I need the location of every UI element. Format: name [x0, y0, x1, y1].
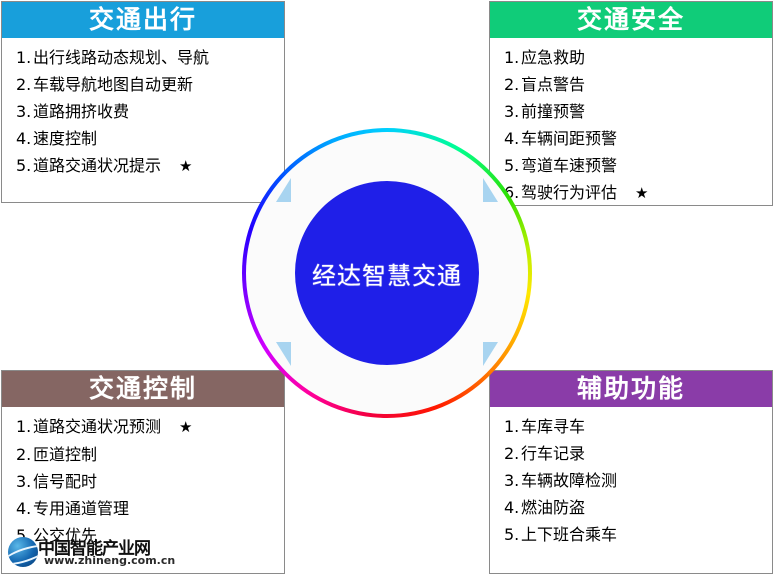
- list-item-number: 5.: [504, 521, 521, 548]
- center-core: 经达智慧交通: [295, 181, 479, 365]
- list-item-label: 行车记录: [521, 444, 585, 463]
- list-item-number: 4.: [16, 495, 33, 522]
- center-hub: 经达智慧交通: [242, 128, 532, 418]
- list-item: 2.匝道控制: [16, 441, 284, 468]
- list-item-number: 3.: [504, 98, 521, 125]
- list-item: 3.道路拥挤收费: [16, 98, 284, 125]
- list-item-number: 2.: [504, 440, 521, 467]
- list-item-label: 信号配时: [33, 472, 97, 491]
- list-item-label: 车库寻车: [521, 417, 585, 436]
- arrow-bottom-left-icon: [276, 340, 310, 368]
- list-item-number: 2.: [16, 71, 33, 98]
- list-item-number: 4.: [504, 494, 521, 521]
- list-item-label: 车辆间距预警: [521, 129, 617, 148]
- list-item: 5.上下班合乘车: [504, 521, 772, 548]
- panel-control-list: 1.道路交通状况预测★ 2.匝道控制 3.信号配时 4.专用通道管理 5.公交优…: [2, 407, 284, 549]
- list-item-label: 上下班合乘车: [521, 525, 617, 544]
- list-item: 3.信号配时: [16, 468, 284, 495]
- list-item-number: 1.: [16, 413, 33, 440]
- list-item-star: ★: [179, 153, 192, 180]
- list-item-number: 1.: [16, 44, 33, 71]
- list-item: 1.应急救助: [504, 44, 772, 71]
- list-item: 2.行车记录: [504, 440, 772, 467]
- list-item-label: 燃油防盗: [521, 498, 585, 517]
- list-item-label: 车辆故障检测: [521, 471, 617, 490]
- list-item-label: 匝道控制: [33, 445, 97, 464]
- arrow-blade-blue: [483, 342, 498, 366]
- list-item-number: 2.: [16, 441, 33, 468]
- list-item-number: 2.: [504, 71, 521, 98]
- list-item-label: 前撞预警: [521, 102, 585, 121]
- list-item-label: 盲点警告: [521, 75, 585, 94]
- panel-assist-list: 1.车库寻车 2.行车记录 3.车辆故障检测 4.燃油防盗 5.上下班合乘车: [490, 407, 772, 548]
- list-item-number: 1.: [504, 44, 521, 71]
- list-item-number: 4.: [16, 125, 33, 152]
- panel-safety-list: 1.应急救助 2.盲点警告 3.前撞预警 4.车辆间距预警 5.弯道车速预警 6…: [490, 38, 772, 207]
- list-item-number: 3.: [16, 468, 33, 495]
- diagram-canvas: 交通出行 1.出行线路动态规划、导航 2.车载导航地图自动更新 3.道路拥挤收费…: [0, 0, 774, 576]
- panel-travel-title: 交通出行: [2, 2, 284, 38]
- list-item: 3.车辆故障检测: [504, 467, 772, 494]
- list-item: 3.前撞预警: [504, 98, 772, 125]
- list-item-star: ★: [179, 414, 192, 441]
- arrow-blade-blue: [276, 342, 291, 366]
- list-item-label: 道路交通状况提示: [33, 156, 161, 175]
- arrow-top-left-icon: [276, 176, 310, 204]
- list-item-label: 出行线路动态规划、导航: [33, 48, 209, 67]
- arrow-bottom-right-icon: [464, 340, 498, 368]
- arrow-top-right-icon: [464, 176, 498, 204]
- list-item: 4.专用通道管理: [16, 495, 284, 522]
- list-item-label: 道路交通状况预测: [33, 417, 161, 436]
- center-core-label: 经达智慧交通: [312, 256, 462, 291]
- panel-safety-title: 交通安全: [490, 2, 772, 38]
- globe-icon: [8, 537, 38, 567]
- list-item: 6.驾驶行为评估★: [504, 179, 772, 207]
- watermark-url: www.zhineng.com.cn: [44, 554, 175, 567]
- list-item-star: ★: [635, 180, 648, 207]
- list-item: 1.出行线路动态规划、导航: [16, 44, 284, 71]
- list-item-label: 弯道车速预警: [521, 156, 617, 175]
- list-item: 2.车载导航地图自动更新: [16, 71, 284, 98]
- list-item: 4.燃油防盗: [504, 494, 772, 521]
- list-item: 4.车辆间距预警: [504, 125, 772, 152]
- list-item-number: 5.: [16, 152, 33, 179]
- list-item-label: 专用通道管理: [33, 499, 129, 518]
- list-item-label: 道路拥挤收费: [33, 102, 129, 121]
- list-item-label: 应急救助: [521, 48, 585, 67]
- list-item-number: 3.: [504, 467, 521, 494]
- list-item: 1.车库寻车: [504, 413, 772, 440]
- list-item: 5.弯道车速预警: [504, 152, 772, 179]
- panel-assist-title: 辅助功能: [490, 371, 772, 407]
- list-item-label: 驾驶行为评估: [521, 183, 617, 202]
- list-item: 2.盲点警告: [504, 71, 772, 98]
- list-item-label: 速度控制: [33, 129, 97, 148]
- list-item-number: 3.: [16, 98, 33, 125]
- arrow-blade-blue: [276, 178, 291, 202]
- watermark: 中国智能产业网 www.zhineng.com.cn: [8, 533, 176, 573]
- arrow-blade-blue: [483, 178, 498, 202]
- list-item-label: 车载导航地图自动更新: [33, 75, 193, 94]
